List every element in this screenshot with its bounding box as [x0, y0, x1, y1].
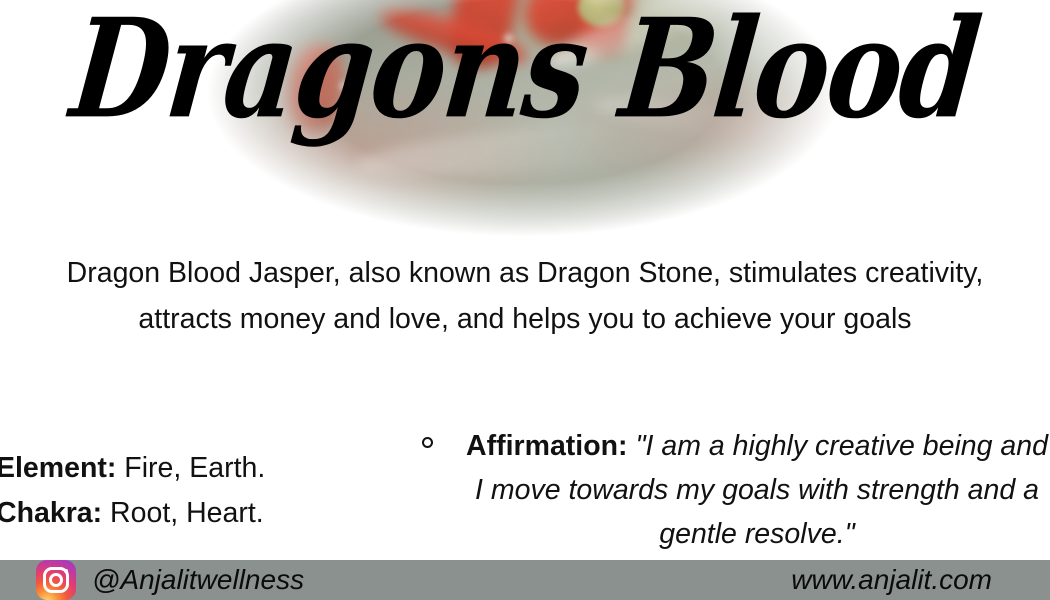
- affirmation-text: Affirmation: "I am a highly creative bei…: [464, 424, 1050, 556]
- property-value-element: Fire, Earth.: [124, 452, 265, 484]
- property-label-chakra: Chakra:: [0, 497, 102, 529]
- property-row-chakra: Chakra: Root, Heart.: [0, 491, 396, 536]
- property-value-chakra: Root, Heart.: [110, 497, 264, 529]
- instagram-icon[interactable]: [36, 560, 76, 600]
- instagram-handle[interactable]: @Anjalitwellness: [92, 566, 304, 594]
- instagram-icon-dot: [64, 569, 68, 573]
- property-row-element: Element: Fire, Earth.: [0, 446, 396, 491]
- instagram-icon-lens: [49, 573, 63, 587]
- hollow-circle-bullet-icon: [422, 437, 433, 448]
- stone-properties: Element: Fire, Earth. Chakra: Root, Hear…: [0, 446, 396, 536]
- hero-banner: Dragons Blood: [0, 0, 1050, 240]
- website-url[interactable]: www.anjalit.com: [791, 566, 992, 594]
- affirmation-block: Affirmation: "I am a highly creative bei…: [414, 424, 1050, 556]
- page-title: Dragons Blood: [0, 2, 1050, 139]
- footer-bar: @Anjalitwellness www.anjalit.com: [0, 560, 1050, 600]
- stone-description: Dragon Blood Jasper, also known as Drago…: [48, 250, 1002, 342]
- footer-social[interactable]: @Anjalitwellness: [36, 560, 304, 600]
- affirmation-label: Affirmation:: [466, 430, 627, 462]
- property-label-element: Element:: [0, 452, 116, 484]
